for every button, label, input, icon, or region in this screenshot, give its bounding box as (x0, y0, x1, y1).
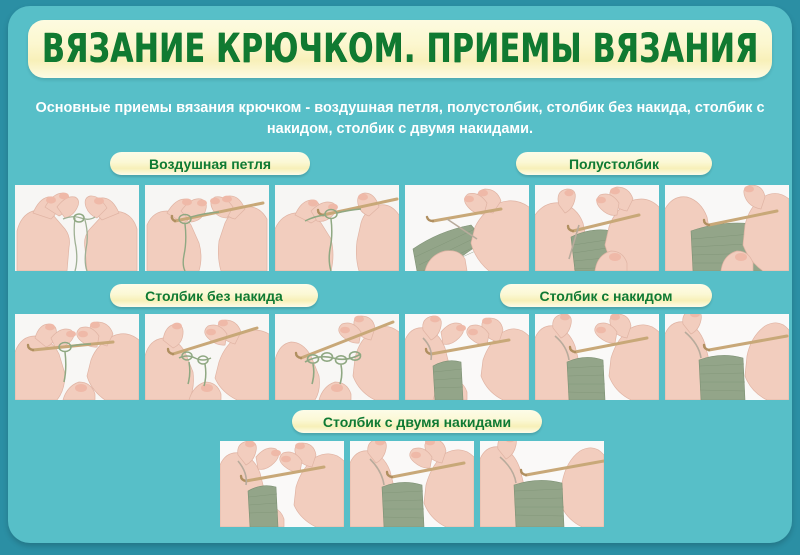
photo-stolbik-s-dvumya-nakidami-1 (220, 441, 344, 527)
photo-polustolbik-1 (405, 185, 529, 271)
section-label-text: Воздушная петля (149, 156, 271, 172)
photo-stolbik-bez-nakida-1 (15, 314, 139, 400)
photo-stolbik-s-nakidom-2 (535, 314, 659, 400)
photo-polustolbik-3 (665, 185, 789, 271)
poster-subtitle: Основные приемы вязания крючком - воздуш… (30, 98, 770, 140)
section-label-vozdushnaya-petlya: Воздушная петля (110, 152, 310, 175)
section-label-stolbik-bez-nakida: Столбик без накида (110, 284, 318, 307)
section-label-text: Полустолбик (569, 156, 659, 172)
poster-root: ВЯЗАНИЕ КРЮЧКОМ. ПРИЕМЫ ВЯЗАНИЯ Основные… (0, 0, 800, 555)
title-banner: ВЯЗАНИЕ КРЮЧКОМ. ПРИЕМЫ ВЯЗАНИЯ (28, 20, 772, 78)
section-label-polustolbik: Полустолбик (516, 152, 712, 175)
page-title: ВЯЗАНИЕ КРЮЧКОМ. ПРИЕМЫ ВЯЗАНИЯ (42, 26, 758, 72)
photo-polustolbik-2 (535, 185, 659, 271)
photo-vozdushnaya-petlya-1 (15, 185, 139, 271)
photo-stolbik-bez-nakida-3 (275, 314, 399, 400)
photo-stolbik-s-nakidom-1 (405, 314, 529, 400)
section-label-text: Столбик с двумя накидами (323, 414, 511, 430)
photo-stolbik-bez-nakida-2 (145, 314, 269, 400)
photo-stolbik-s-nakidom-3 (665, 314, 789, 400)
photo-vozdushnaya-petlya-2 (145, 185, 269, 271)
section-label-stolbik-s-nakidom: Столбик с накидом (500, 284, 712, 307)
photo-stolbik-s-dvumya-nakidami-3 (480, 441, 604, 527)
section-label-stolbik-s-dvumya-nakidami: Столбик с двумя накидами (292, 410, 542, 433)
section-label-text: Столбик без накида (145, 288, 283, 304)
photo-vozdushnaya-petlya-3 (275, 185, 399, 271)
section-label-text: Столбик с накидом (540, 288, 673, 304)
photo-stolbik-s-dvumya-nakidami-2 (350, 441, 474, 527)
